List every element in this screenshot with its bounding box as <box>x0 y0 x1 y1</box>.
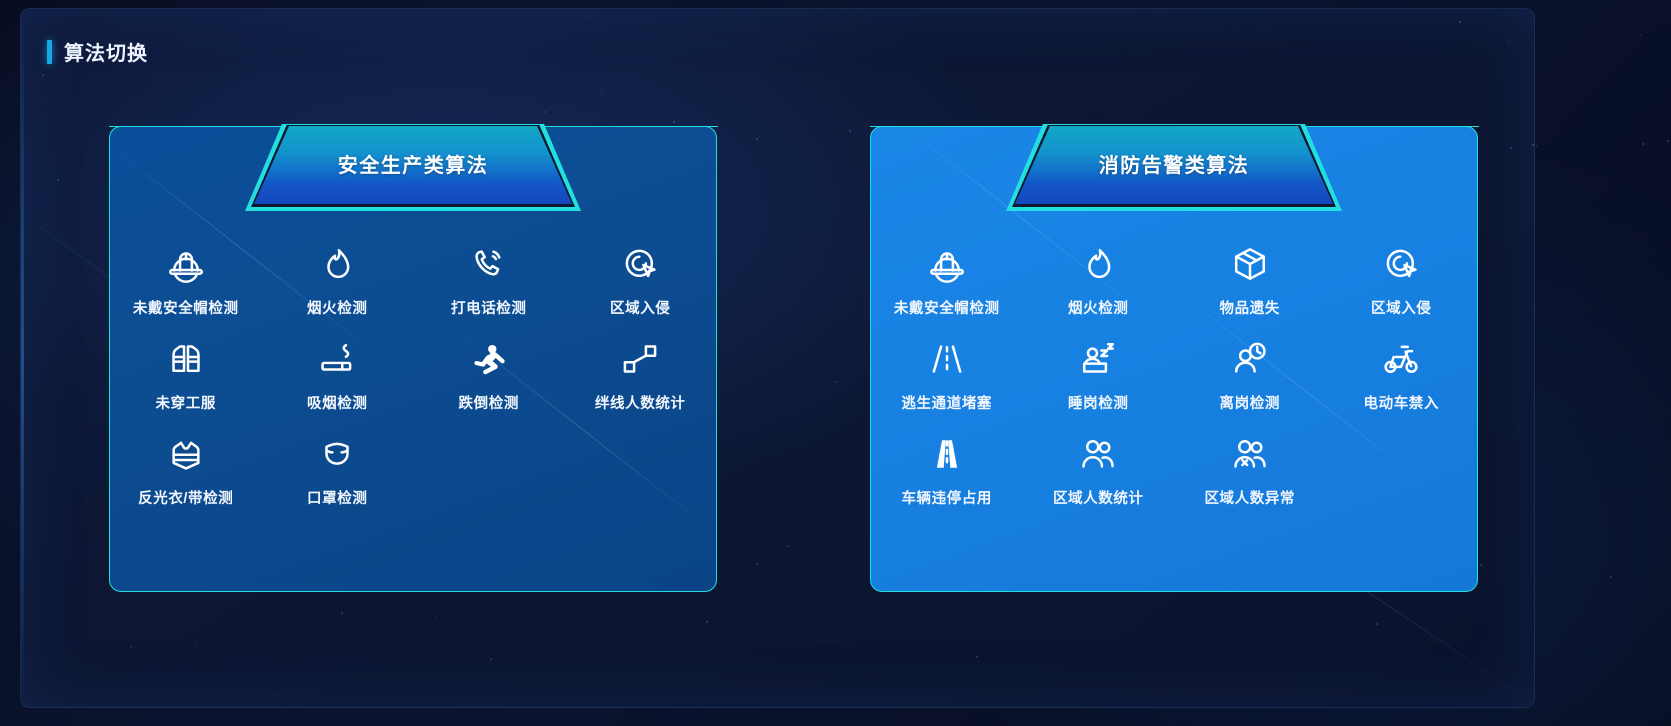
algorithm-item-region-intrusion[interactable]: 区域入侵 <box>565 235 717 322</box>
algorithm-item-label: 烟火检测 <box>1068 297 1128 318</box>
two-people-icon <box>1075 431 1121 477</box>
region-intrusion-icon <box>1378 241 1424 287</box>
app-root: 算法切换 安全生产类算法 未戴安全帽检测烟火检测打电话检测区域入侵未穿工服吸烟检… <box>0 0 1671 726</box>
panel-top-border-left <box>109 126 264 128</box>
page-header: 算法切换 <box>47 37 148 66</box>
escape-route-icon <box>924 336 970 382</box>
falling-person-icon <box>466 336 512 382</box>
algorithm-item-label: 离岗检测 <box>1220 392 1280 413</box>
lost-package-icon <box>1227 241 1273 287</box>
algorithm-item-sleeping-person[interactable]: 睡岗检测 <box>1023 330 1175 417</box>
algorithm-item-label: 跌倒检测 <box>459 392 519 413</box>
algorithm-item-label: 区域入侵 <box>1371 297 1431 318</box>
panel-header-safety-production: 安全生产类算法 <box>254 126 572 204</box>
algorithm-item-label: 区域人数统计 <box>1053 487 1144 508</box>
algorithm-item-falling-person[interactable]: 跌倒检测 <box>413 330 565 417</box>
algorithm-item-road-occupied[interactable]: 车辆违停占用 <box>871 425 1023 512</box>
algorithm-item-flame[interactable]: 烟火检测 <box>262 235 414 322</box>
algorithm-item-label: 睡岗检测 <box>1068 392 1128 413</box>
algorithm-item-tripwire[interactable]: 绊线人数统计 <box>565 330 717 417</box>
panel-top-border-right <box>563 126 718 128</box>
algorithm-item-lost-package[interactable]: 物品遗失 <box>1174 235 1326 322</box>
algorithm-item-person-clock[interactable]: 离岗检测 <box>1174 330 1326 417</box>
people-abnormal-icon <box>1227 431 1273 477</box>
algorithm-item-region-intrusion[interactable]: 区域入侵 <box>1326 235 1478 322</box>
panel-safety-production: 安全生产类算法 未戴安全帽检测烟火检测打电话检测区域入侵未穿工服吸烟检测跌倒检测… <box>109 126 717 592</box>
page-title: 算法切换 <box>64 37 148 66</box>
cigarette-icon <box>314 336 360 382</box>
phone-call-icon <box>466 241 512 287</box>
helmet-icon <box>163 241 209 287</box>
algorithm-item-label: 车辆违停占用 <box>901 487 992 508</box>
algorithm-item-scooter[interactable]: 电动车禁入 <box>1326 330 1478 417</box>
flame-icon <box>314 241 360 287</box>
algorithm-item-phone-call[interactable]: 打电话检测 <box>413 235 565 322</box>
algorithm-item-two-people[interactable]: 区域人数统计 <box>1023 425 1175 512</box>
algorithm-item-people-abnormal[interactable]: 区域人数异常 <box>1174 425 1326 512</box>
road-occupied-icon <box>924 431 970 477</box>
algorithm-item-flame[interactable]: 烟火检测 <box>1023 235 1175 322</box>
algorithm-item-label: 烟火检测 <box>307 297 367 318</box>
reflective-vest-icon <box>163 431 209 477</box>
sleeping-person-icon <box>1075 336 1121 382</box>
algorithm-item-label: 未穿工服 <box>156 392 216 413</box>
panel-header-fire-alarm: 消防告警类算法 <box>1015 126 1333 204</box>
work-vest-icon <box>163 336 209 382</box>
algorithm-item-label: 物品遗失 <box>1220 297 1280 318</box>
algorithm-grid-fire-alarm: 未戴安全帽检测烟火检测物品遗失区域入侵逃生通道堵塞睡岗检测离岗检测电动车禁入车辆… <box>871 235 1477 512</box>
algorithm-item-label: 逃生通道堵塞 <box>901 392 992 413</box>
algorithm-item-label: 区域人数异常 <box>1204 487 1295 508</box>
algorithm-item-work-vest[interactable]: 未穿工服 <box>110 330 262 417</box>
person-clock-icon <box>1227 336 1273 382</box>
algorithm-item-label: 打电话检测 <box>451 297 527 318</box>
algorithm-item-cigarette[interactable]: 吸烟检测 <box>262 330 414 417</box>
algorithm-switch-card: 算法切换 安全生产类算法 未戴安全帽检测烟火检测打电话检测区域入侵未穿工服吸烟检… <box>20 8 1535 708</box>
panel-top-border-right <box>1324 126 1479 128</box>
title-accent-bar <box>47 40 52 64</box>
panel-header-label: 安全生产类算法 <box>254 126 572 204</box>
helmet-icon <box>924 241 970 287</box>
algorithm-grid-safety-production: 未戴安全帽检测烟火检测打电话检测区域入侵未穿工服吸烟检测跌倒检测绊线人数统计反光… <box>110 235 716 512</box>
algorithm-item-label: 反光衣/带检测 <box>138 487 233 508</box>
algorithm-item-reflective-vest[interactable]: 反光衣/带检测 <box>110 425 262 512</box>
algorithm-item-escape-route[interactable]: 逃生通道堵塞 <box>871 330 1023 417</box>
panel-top-border-left <box>870 126 1025 128</box>
algorithm-item-helmet[interactable]: 未戴安全帽检测 <box>871 235 1023 322</box>
algorithm-item-label: 未戴安全帽检测 <box>133 297 239 318</box>
panel-fire-alarm: 消防告警类算法 未戴安全帽检测烟火检测物品遗失区域入侵逃生通道堵塞睡岗检测离岗检… <box>870 126 1478 592</box>
algorithm-item-label: 绊线人数统计 <box>595 392 686 413</box>
face-mask-icon <box>314 431 360 477</box>
algorithm-item-label: 吸烟检测 <box>307 392 367 413</box>
algorithm-item-label: 电动车禁入 <box>1364 392 1440 413</box>
algorithm-item-label: 口罩检测 <box>307 487 367 508</box>
algorithm-item-face-mask[interactable]: 口罩检测 <box>262 425 414 512</box>
panel-header-label: 消防告警类算法 <box>1015 126 1333 204</box>
region-intrusion-icon <box>617 241 663 287</box>
algorithm-item-label: 未戴安全帽检测 <box>894 297 1000 318</box>
algorithm-item-label: 区域入侵 <box>610 297 670 318</box>
scooter-icon <box>1378 336 1424 382</box>
flame-icon <box>1075 241 1121 287</box>
algorithm-item-helmet[interactable]: 未戴安全帽检测 <box>110 235 262 322</box>
tripwire-icon <box>617 336 663 382</box>
